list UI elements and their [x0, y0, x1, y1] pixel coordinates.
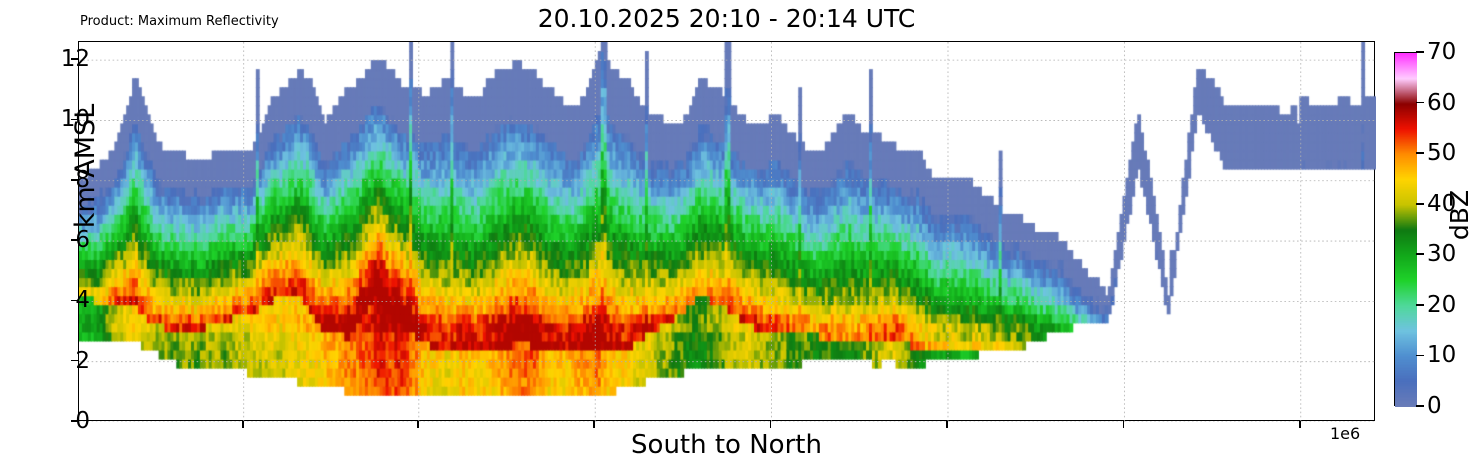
colorbar-tick-label-40: 40: [1427, 191, 1456, 217]
colorbar: [1394, 52, 1416, 406]
colorbar-tick-mark-20: [1416, 304, 1424, 306]
reflectivity-heatmap-canvas: [79, 42, 1376, 422]
colorbar-tick-label-10: 10: [1427, 342, 1456, 368]
y-axis-tick-label-10: 10: [61, 106, 90, 132]
x-axis-offset-text: 1e6: [1330, 424, 1360, 444]
y-axis-tick-label-4: 4: [75, 287, 90, 313]
colorbar-tick-mark-70: [1416, 51, 1424, 53]
x-axis-tick-mark-6: [1299, 421, 1301, 428]
y-axis-tick-label-0: 0: [75, 408, 90, 434]
x-axis-tick-mark-5: [1123, 421, 1125, 428]
x-axis-tick-mark-4: [946, 421, 948, 428]
figure-root: Product: Maximum Reflectivity 20.10.2025…: [0, 0, 1482, 470]
colorbar-tick-mark-10: [1416, 355, 1424, 357]
x-axis-tick-mark-0: [242, 421, 244, 428]
plot-area: [78, 41, 1375, 421]
x-axis-tick-mark-3: [770, 421, 772, 428]
y-axis-tick-label-8: 8: [75, 167, 90, 193]
y-axis-tick-label-6: 6: [75, 227, 90, 253]
colorbar-tick-label-60: 60: [1427, 90, 1456, 116]
y-axis-tick-label-2: 2: [75, 348, 90, 374]
x-axis-tick-mark-1: [417, 421, 419, 428]
y-axis-tick-label-12: 12: [61, 46, 90, 72]
colorbar-tick-label-70: 70: [1427, 39, 1456, 65]
colorbar-tick-mark-30: [1416, 253, 1424, 255]
colorbar-gradient: [1395, 53, 1417, 407]
colorbar-tick-mark-0: [1416, 405, 1424, 407]
colorbar-tick-label-0: 0: [1427, 393, 1442, 419]
x-axis-label: South to North: [78, 429, 1375, 461]
colorbar-tick-label-30: 30: [1427, 241, 1456, 267]
colorbar-tick-mark-50: [1416, 152, 1424, 154]
page-title: 20.10.2025 20:10 - 20:14 UTC: [78, 4, 1375, 34]
colorbar-tick-mark-60: [1416, 102, 1424, 104]
x-axis-tick-mark-2: [593, 421, 595, 428]
colorbar-tick-label-50: 50: [1427, 140, 1456, 166]
colorbar-tick-label-20: 20: [1427, 292, 1456, 318]
colorbar-tick-mark-40: [1416, 203, 1424, 205]
